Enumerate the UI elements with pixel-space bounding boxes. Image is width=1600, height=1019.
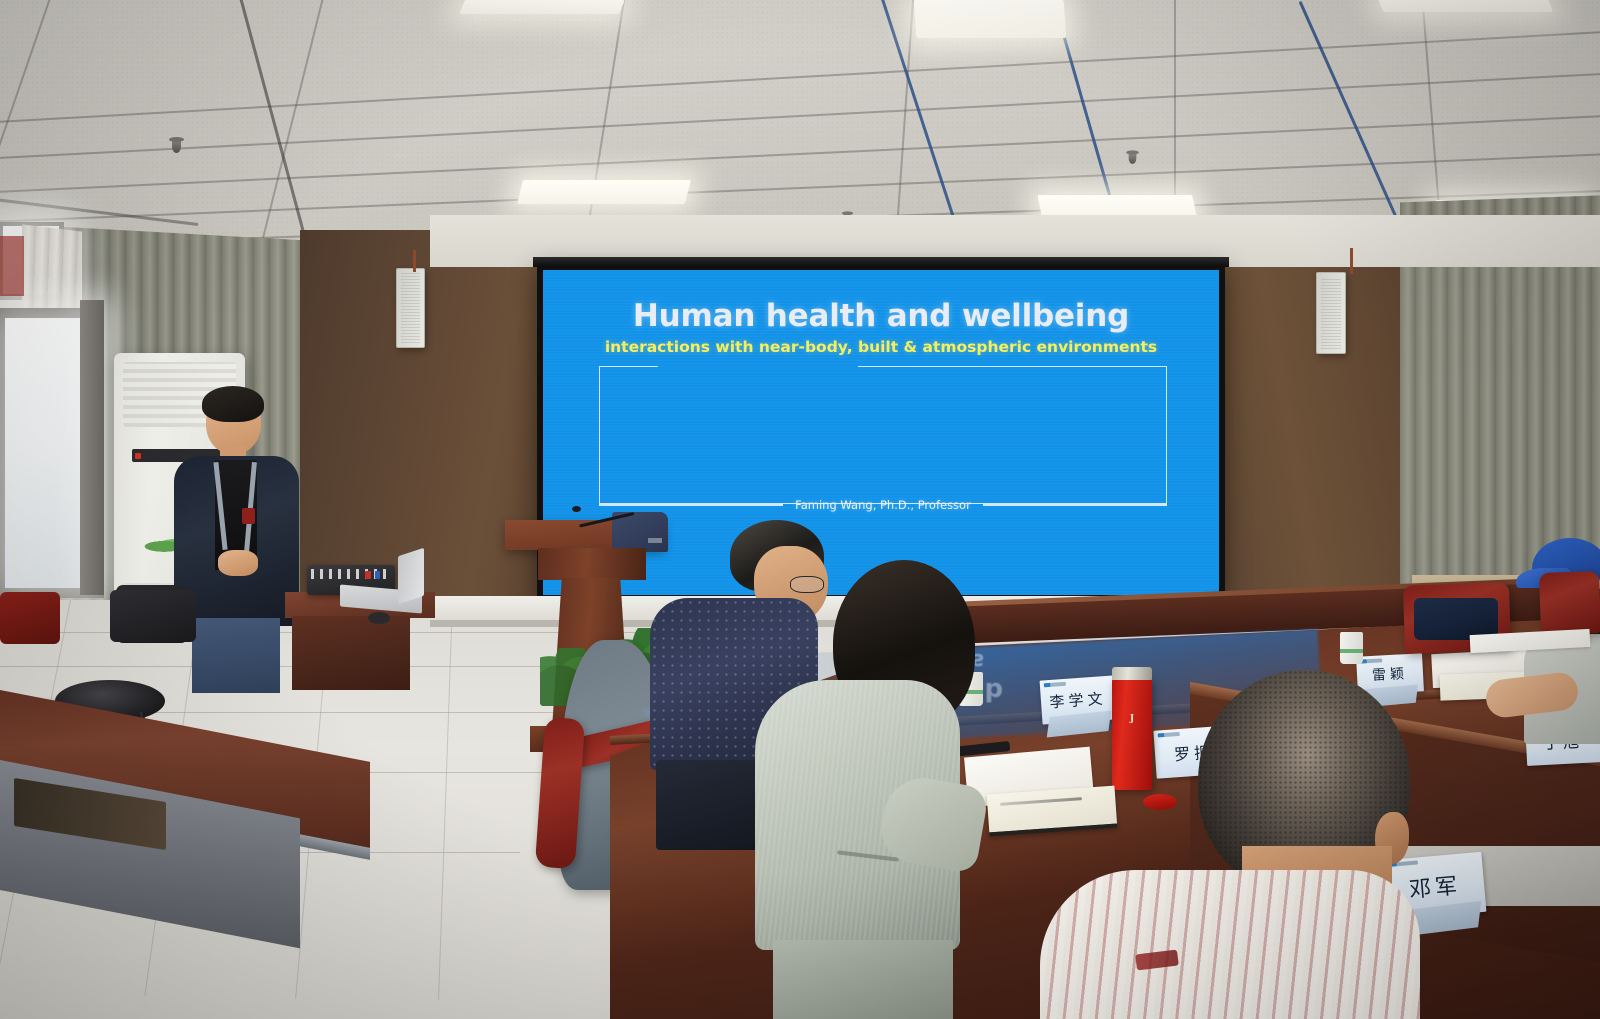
ceiling-panel-light xyxy=(1377,0,1553,12)
wall-speaker-left xyxy=(396,268,425,348)
chair-backrest-far-right[interactable] xyxy=(1539,571,1600,635)
slide-rule-right xyxy=(983,504,1167,505)
slide-rule-left xyxy=(599,504,783,505)
slide-title: Human health and wellbeing xyxy=(543,298,1219,334)
stool-backrest[interactable] xyxy=(110,590,196,642)
placard-logo xyxy=(1360,658,1382,663)
sprinkler-head xyxy=(1129,153,1137,164)
office-chair-back[interactable] xyxy=(0,592,60,644)
red-wall-marker xyxy=(0,236,24,296)
slide-author: Faming Wang, Ph.D., Professor xyxy=(795,498,971,512)
lectern-column xyxy=(538,548,646,580)
foreground-striped-shirt xyxy=(1040,870,1420,1019)
speaker-grille xyxy=(1321,277,1341,349)
mouse[interactable] xyxy=(368,612,390,624)
attendee-woman-blazer xyxy=(755,560,985,1019)
presenter-hair xyxy=(202,386,264,422)
sprinkler-head xyxy=(172,140,181,153)
slide-author-row: Faming Wang, Ph.D., Professor xyxy=(599,498,1167,512)
attendee-foreground xyxy=(1020,670,1420,1019)
slide-subtitle: interactions with near-body, built & atm… xyxy=(553,338,1209,358)
microphone-capsule xyxy=(572,506,581,512)
attendee-woman-lower xyxy=(773,940,953,1019)
speaker-cable-right xyxy=(1350,248,1353,274)
speaker-cable-left xyxy=(413,250,416,272)
slide-title-frame xyxy=(599,366,1167,504)
wall-speaker-right xyxy=(1316,272,1346,354)
presenter-badge xyxy=(242,508,255,524)
ceiling-panel-light xyxy=(459,0,625,14)
side-table-leg xyxy=(292,616,410,690)
presenter-hands xyxy=(218,550,258,576)
window-sash-open xyxy=(80,300,104,595)
window-pane-main xyxy=(5,318,83,588)
conference-room-photo: Human health and wellbeing interactions … xyxy=(0,0,1600,1019)
ceiling-panel-light xyxy=(914,0,1067,38)
paper-cup[interactable] xyxy=(1340,632,1363,664)
presenter xyxy=(170,390,310,690)
laptop-screen[interactable] xyxy=(398,548,424,604)
ceiling-panel-light xyxy=(517,180,691,204)
speaker-grille xyxy=(401,273,420,343)
